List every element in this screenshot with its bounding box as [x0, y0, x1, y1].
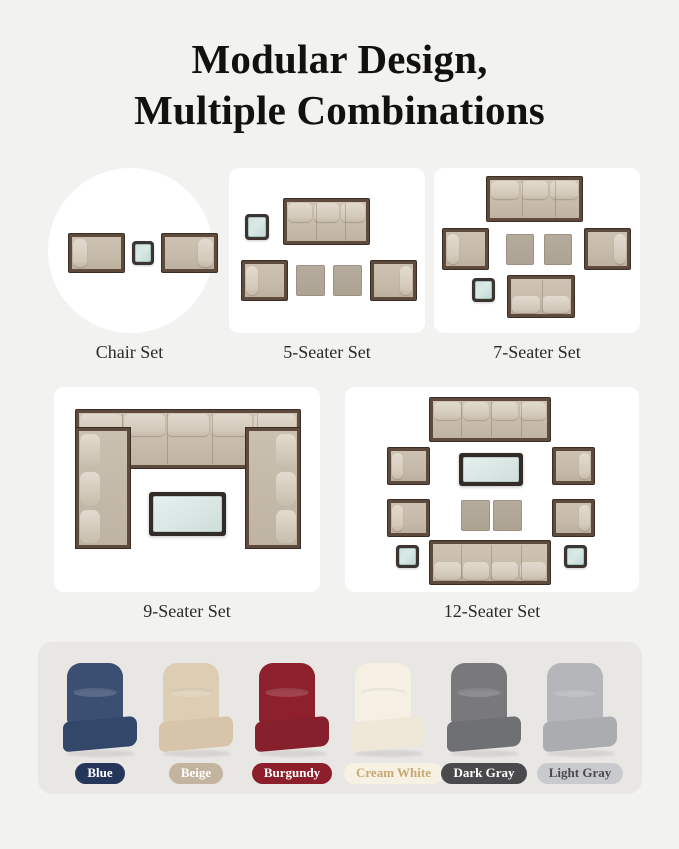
page-title: Modular Design, Multiple Combinations [0, 34, 679, 136]
color-swatch-burgundy[interactable]: Burgundy [248, 663, 336, 784]
loveseat-icon [507, 275, 575, 318]
glass-side-table-icon [472, 278, 495, 302]
armchair-icon [442, 228, 489, 270]
cushion-chair-icon [349, 663, 427, 755]
color-options-panel: Blue Beige Burgundy [38, 642, 642, 794]
title-line-2: Multiple Combinations [0, 85, 679, 136]
sofa-icon [486, 176, 583, 222]
cushion-back [547, 663, 603, 725]
sectional-left-icon [75, 427, 131, 549]
color-label-cream-white[interactable]: Cream White [344, 763, 443, 784]
five-seater-illustration [229, 168, 425, 333]
glass-side-table-icon [132, 241, 154, 265]
color-swatch-beige[interactable]: Beige [152, 663, 240, 784]
ottoman-icon [333, 265, 362, 296]
color-label-light-gray[interactable]: Light Gray [537, 763, 623, 784]
cushion-back [355, 663, 411, 725]
ottoman-icon [296, 265, 325, 296]
sofa-icon [429, 540, 551, 585]
set-caption: 9-Seater Set [35, 601, 340, 622]
ottoman-icon [493, 500, 522, 531]
set-row-1: Chair Set [0, 168, 679, 363]
armchair-icon [584, 228, 631, 270]
cushion-back [67, 663, 123, 725]
color-swatch-dark-gray[interactable]: Dark Gray [440, 663, 528, 784]
ottoman-icon [461, 500, 490, 531]
cushion-seat [63, 716, 137, 752]
armchair-icon [161, 233, 218, 273]
cushion-back [259, 663, 315, 725]
color-label-burgundy[interactable]: Burgundy [252, 763, 332, 784]
cushion-chair-icon [61, 663, 139, 755]
ottoman-icon [506, 234, 534, 265]
cushion-chair-icon [541, 663, 619, 755]
cushion-back [451, 663, 507, 725]
set-layouts: Chair Set [0, 168, 679, 622]
set-caption: 12-Seater Set [340, 601, 645, 622]
color-swatch-light-gray[interactable]: Light Gray [536, 663, 624, 784]
glass-side-table-icon [245, 214, 269, 240]
armchair-icon [68, 233, 125, 273]
armchair-icon [387, 447, 430, 485]
color-label-dark-gray[interactable]: Dark Gray [441, 763, 526, 784]
title-line-1: Modular Design, [0, 34, 679, 85]
armchair-icon [241, 260, 288, 301]
color-swatch-blue[interactable]: Blue [56, 663, 144, 784]
set-card-chair-set[interactable]: Chair Set [35, 168, 225, 363]
cushion-seat [351, 716, 425, 752]
sectional-right-icon [245, 427, 301, 549]
cushion-chair-icon [157, 663, 235, 755]
cushion-chair-icon [253, 663, 331, 755]
glass-coffee-table-icon [459, 453, 523, 486]
set-card-9-seater-set[interactable]: 9-Seater Set [35, 387, 340, 622]
glass-side-table-icon [564, 545, 587, 568]
set-caption: Chair Set [35, 342, 225, 363]
ottoman-icon [544, 234, 572, 265]
sofa-icon [283, 198, 370, 245]
set-row-2: 9-Seater Set [0, 387, 679, 622]
cushion-chair-icon [445, 663, 523, 755]
cushion-seat [159, 716, 233, 752]
color-swatch-list: Blue Beige Burgundy [38, 642, 642, 794]
armchair-icon [552, 447, 595, 485]
cushion-back [163, 663, 219, 725]
seven-seater-illustration [434, 168, 640, 333]
cushion-seat [543, 716, 617, 752]
cushion-seat [255, 716, 329, 752]
glass-side-table-icon [396, 545, 419, 568]
glass-coffee-table-icon [149, 492, 226, 536]
chair-set-illustration [35, 168, 225, 333]
cushion-seat [447, 716, 521, 752]
set-card-12-seater-set[interactable]: 12-Seater Set [340, 387, 645, 622]
twelve-seater-illustration [345, 387, 639, 592]
product-infographic: Modular Design, Multiple Combinations [0, 0, 679, 849]
color-swatch-cream-white[interactable]: Cream White [344, 663, 432, 784]
color-label-blue[interactable]: Blue [75, 763, 124, 784]
set-caption: 5-Seater Set [225, 342, 430, 363]
color-label-beige[interactable]: Beige [169, 763, 223, 784]
set-card-5-seater-set[interactable]: 5-Seater Set [225, 168, 430, 363]
set-card-7-seater-set[interactable]: 7-Seater Set [430, 168, 645, 363]
armchair-icon [552, 499, 595, 537]
sofa-icon [429, 397, 551, 442]
armchair-icon [370, 260, 417, 301]
nine-seater-illustration [54, 387, 320, 592]
armchair-icon [387, 499, 430, 537]
set-caption: 7-Seater Set [430, 342, 645, 363]
